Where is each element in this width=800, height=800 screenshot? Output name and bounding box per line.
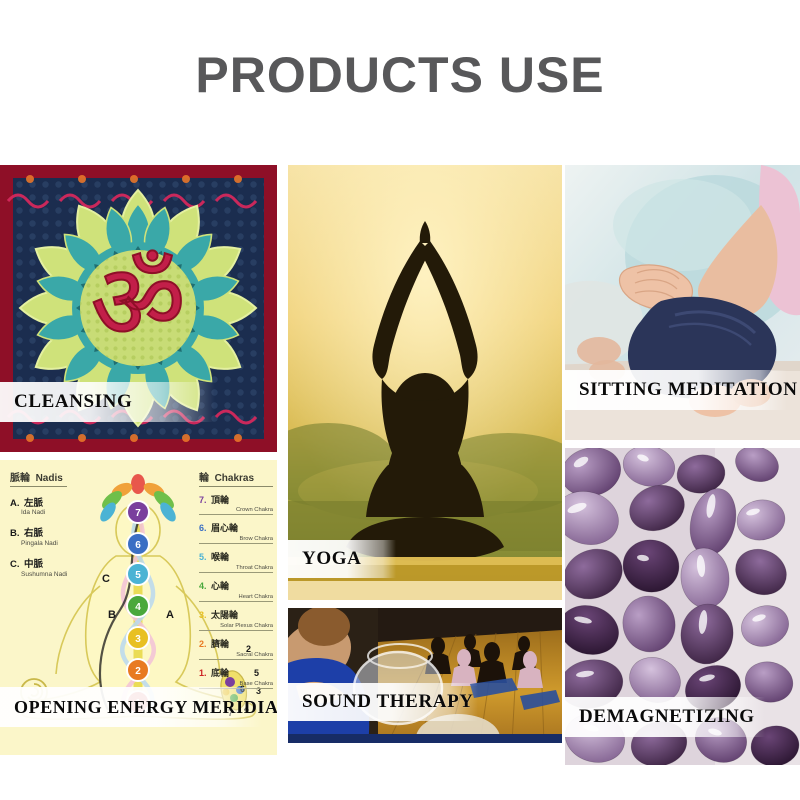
tile-label-sound-therapy: SOUND THERAPY [288,683,478,721]
svg-text:2: 2 [135,666,141,677]
chakras-legend: 輪 Chakras 7. 頂輪 Crown Chakra 6. 眉心輪 Brow… [199,474,273,689]
yoga-silhouette-image [288,165,562,600]
chakras-heading: 輪 Chakras [199,474,273,487]
tile-label-demagnetizing: DEMAGNETIZING [565,697,765,737]
chakra-item: 1. 底輪 Base Chakra [199,664,273,689]
svg-text:3: 3 [135,634,141,645]
svg-text:A: A [166,609,174,621]
tile-label-cleansing: CLEANSING [0,382,215,422]
products-use-collage: ॐ CLEANSING [0,165,800,765]
page-title: PRODUCTS USE [0,0,800,100]
svg-text:C: C [102,573,110,585]
svg-text:7: 7 [135,508,141,519]
collage-column-left: ॐ CLEANSING [0,165,277,755]
chakra-item: 4. 心輪 Heart Chakra [199,577,273,602]
nadis-legend: 脈輪 Nadis A. 左脈 Ida Nadi B. 右脈 Pingala Na… [10,474,67,578]
nadi-item: A. 左脈 Ida Nadi [10,494,67,518]
chakra-item: 6. 眉心輪 Brow Chakra [199,519,273,544]
collage-column-middle: YOGA [288,165,562,743]
tile-sitting-meditation[interactable]: SITTING MEDITATION [565,165,800,440]
tile-demagnetizing[interactable]: DEMAGNETIZING [565,448,800,765]
chakra-item: 2. 臍輪 Sacral Chakra [199,635,273,660]
tile-sound-therapy[interactable]: SOUND THERAPY [288,608,562,743]
sound-therapy-image [288,608,562,743]
svg-text:6: 6 [135,540,141,551]
chakra-item: 5. 喉輪 Throat Chakra [199,548,273,573]
tile-label-yoga: YOGA [288,540,396,578]
nadi-item: B. 右脈 Pingala Nadi [10,524,67,548]
svg-text:B: B [108,609,116,621]
tile-cleansing[interactable]: ॐ CLEANSING [0,165,277,452]
tile-label-sitting-meditation: SITTING MEDITATION [565,370,787,410]
nadi-item: C. 中脈 Sushumna Nadi [10,555,67,579]
chakra-item: 3. 太陽輪 Solar Plexus Chakra [199,606,273,631]
svg-text:4: 4 [135,602,141,613]
svg-text:ॐ: ॐ [91,241,186,363]
svg-text:5: 5 [135,570,141,581]
tile-label-opening-energy-meridians: OPENING ENERGY MERIDIANS [0,687,262,727]
tile-yoga[interactable]: YOGA [288,165,562,600]
chakra-item: 7. 頂輪 Crown Chakra [199,491,273,516]
tile-opening-energy-meridians[interactable]: 12 34 56 7 [0,460,277,755]
nadis-heading: 脈輪 Nadis [10,474,67,487]
collage-column-right: SITTING MEDITATION [565,165,800,765]
